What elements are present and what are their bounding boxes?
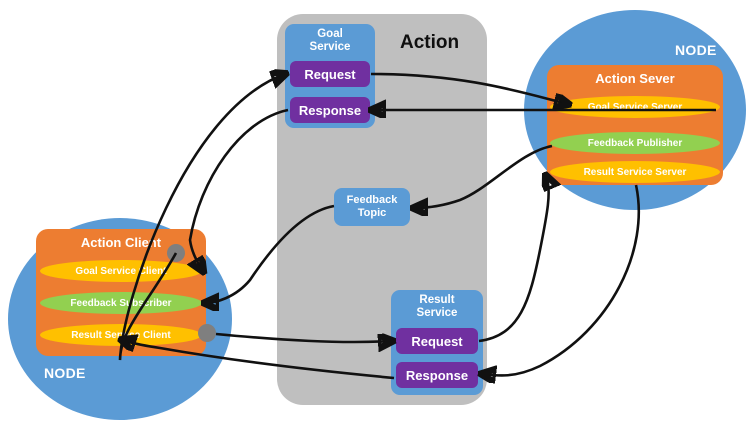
action-panel-title: Action xyxy=(400,32,459,54)
result-service-title-line2: Service xyxy=(391,307,483,320)
goal-response-box[interactable]: Response xyxy=(290,97,370,123)
result-service-title-line1: Result xyxy=(391,294,483,307)
server-node-label: NODE xyxy=(675,42,717,58)
result-response-box[interactable]: Response xyxy=(396,362,478,388)
feedback-subscriber-pill[interactable]: Feedback Subscriber xyxy=(40,292,202,314)
action-server-title: Action Sever xyxy=(547,71,723,86)
feedback-topic-line2: Topic xyxy=(358,207,387,219)
arrow-result-request-to-server xyxy=(479,176,549,341)
feedback-topic-line1: Feedback xyxy=(347,194,398,206)
goal-service-title-line1: Goal xyxy=(285,28,375,41)
result-client-connector-dot xyxy=(198,324,216,342)
result-request-box[interactable]: Request xyxy=(396,328,478,354)
feedback-topic-text: Feedback Topic xyxy=(347,194,398,220)
goal-request-box[interactable]: Request xyxy=(290,61,370,87)
goal-client-connector-dot xyxy=(167,244,185,262)
goal-service-title-line2: Service xyxy=(285,41,375,54)
result-service-server-pill[interactable]: Result Service Server xyxy=(550,161,720,183)
diagram-canvas: Action NODE Action Client Goal Service C… xyxy=(0,0,756,425)
feedback-topic-box[interactable]: Feedback Topic xyxy=(334,188,410,226)
goal-service-server-pill[interactable]: Goal Service Server xyxy=(550,96,720,118)
goal-service-client-pill[interactable]: Goal Service Client xyxy=(40,260,202,282)
client-node-label: NODE xyxy=(44,365,86,381)
result-service-client-pill[interactable]: Result Service Client xyxy=(40,324,202,346)
arrow-result-server-to-response xyxy=(482,185,639,376)
feedback-publisher-pill[interactable]: Feedback Publisher xyxy=(550,132,720,154)
